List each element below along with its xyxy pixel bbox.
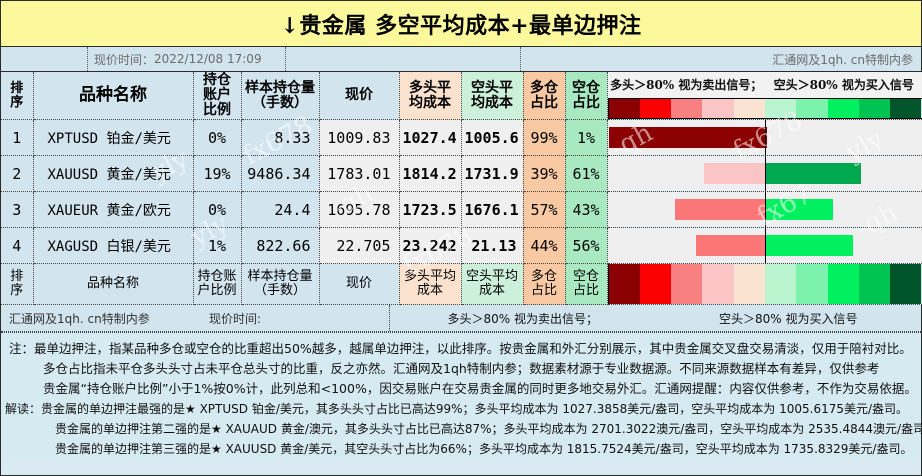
col-header-name: 品种名称 [33,72,193,120]
cell-long-ratio: 39% [523,156,565,192]
legend-swatch-6 [796,264,827,304]
cell-short-cost: 1676.1 [461,192,523,228]
sub-header: 现价时间：2022/12/08 17:09 汇通网及1qh. cn特制内参 [1,47,921,72]
cell-long-cost: 23.242 [399,228,461,264]
cell-long-cost: 1723.5 [399,192,461,228]
legend-swatch-0 [609,264,640,304]
bar-center-line [765,156,766,191]
cell-long-ratio: 57% [523,192,565,228]
cell-ratio-bar [607,228,922,264]
cell-long-cost: 1027.4 [399,120,461,156]
col-header-short-ratio: 空仓占比 [565,72,607,120]
cell-account-ratio: 0% [193,192,241,228]
cell-instrument-name: XAGUSD 白银/美元 [33,228,193,264]
fcol-header-name: 品种名称 [33,264,193,305]
cell-ratio-bar [607,192,922,228]
cell-instrument-name: XAUEUR 黄金/欧元 [33,192,193,228]
cell-rank: 3 [1,192,33,228]
cell-price: 1695.78 [319,192,399,228]
legend-labels: 多头＞80% 视为卖出信号； 空头＞80% 视为买入信号 [608,72,922,98]
legend-long-signal: 多头＞80% 视为卖出信号； [608,78,766,93]
report-page: ↓贵金属 多空平均成本+最单边押注 现价时间：2022/12/08 17:09 … [0,0,922,476]
legend-panel-bottom [607,264,922,305]
table-row[interactable]: 2XAUUSD 黄金/美元19%9486.341783.011814.21731… [1,156,922,192]
legend-swatch-2 [671,264,702,304]
legend-swatch-8 [859,264,890,304]
table-row[interactable]: 3XAUEUR 黄金/欧元0%24.41695.781723.51676.157… [1,192,922,228]
legend-swatch-1 [640,264,671,304]
cell-short-ratio: 43% [565,192,607,228]
col-header-sample-lots: 样本持仓量（手数） [241,72,319,120]
bar-short [765,199,833,220]
cell-short-ratio: 61% [565,156,607,192]
current-time-value: 2022/12/08 17:09 [154,52,262,66]
legend-swatch-4 [734,264,765,304]
fcol-header-short-ratio: 空仓占比 [565,264,607,305]
fcol-header-sample-lots: 样本持仓量（手数） [241,264,319,305]
bar-center-line [765,120,766,155]
footer-brand: 汇通网及1qh. cn特制内参 [1,305,209,331]
page-title-bar: ↓贵金属 多空平均成本+最单边押注 [1,1,921,47]
fcol-header-long-cost: 多头平均成本 [399,264,461,305]
legend-swatch-3 [702,264,733,304]
cell-rank: 4 [1,228,33,264]
cell-long-cost: 1814.2 [399,156,461,192]
note-line: 贵金属“持仓账户比例”小于1%按0%计，此列总和<100%，因交易账户在交易贵金… [1,379,921,399]
legend-swatch-0 [609,99,640,118]
table-footer-header-row: 排序 品种名称 持仓账户比例 样本持仓量（手数） 现价 多头平均成本 空头平均成… [1,264,922,305]
col-header-price: 现价 [319,72,399,120]
legend-swatch-9 [890,264,921,304]
footer-long-signal: 多头＞80% 视为卖出信号； [390,310,656,327]
footer-brand-row: 汇通网及1qh. cn特制内参 现价时间: 多头＞80% 视为卖出信号； 空头＞… [1,305,921,332]
table-row[interactable]: 1XPTUSD 铂金/美元0%8.331009.831027.41005.699… [1,120,922,156]
bar-center-line [765,192,766,227]
col-header-long-cost: 多头平均成本 [399,72,461,120]
fcol-header-short-cost: 空头平均成本 [461,264,523,305]
legend-swatch-7 [828,99,859,118]
note-line: 多仓占比指未平仓多头头寸占未平仓总头寸的比重，反之亦然。汇通网及1qh特制内参；… [1,359,921,379]
cell-price: 22.705 [319,228,399,264]
legend-swatch-3 [702,99,733,118]
cell-sample-lots: 9486.34 [241,156,319,192]
cell-short-ratio: 1% [565,120,607,156]
cell-long-ratio: 99% [523,120,565,156]
cell-short-ratio: 56% [565,228,607,264]
cell-rank: 1 [1,120,33,156]
bar-center-line [765,228,766,263]
reading-line: 贵金属的单边押注第三强的是★ XAUUSD 黄金/美元，其空头头寸占比为66%；… [1,439,921,459]
brand-label: 汇通网及1qh. cn特制内参 [521,47,921,71]
cell-short-cost: 21.13 [461,228,523,264]
cell-sample-lots: 822.66 [241,228,319,264]
col-header-rank: 排序 [1,72,33,120]
legend-short-signal: 空头＞80% 视为买入信号 [765,78,922,93]
footer-short-signal: 空头＞80% 视为买入信号 [656,310,922,327]
footer-signals: 多头＞80% 视为卖出信号； 空头＞80% 视为买入信号 [389,305,921,331]
fcol-header-account-ratio: 持仓账户比例 [193,264,241,305]
legend-swatch-5 [765,99,796,118]
col-header-account-ratio: 持仓账户比例 [193,72,241,120]
bar-long [704,163,765,184]
cell-account-ratio: 1% [193,228,241,264]
cell-sample-lots: 8.33 [241,120,319,156]
page-title: ↓贵金属 多空平均成本+最单边押注 [280,8,641,40]
legend-swatch-9 [890,99,921,118]
cell-rank: 2 [1,156,33,192]
legend-swatch-6 [796,99,827,118]
current-time: 现价时间：2022/12/08 17:09 [88,47,286,71]
legend-swatch-1 [640,99,671,118]
fcol-header-rank: 排序 [1,264,33,305]
legend-swatch-7 [828,264,859,304]
cell-short-cost: 1005.6 [461,120,523,156]
cell-short-cost: 1731.9 [461,156,523,192]
col-header-long-ratio: 多仓占比 [523,72,565,120]
cell-price: 1009.83 [319,120,399,156]
cell-ratio-bar [607,156,922,192]
legend-color-scale-bottom [608,264,922,304]
legend-swatch-5 [765,264,796,304]
legend-swatch-8 [859,99,890,118]
bar-long [696,235,765,256]
legend-color-scale [608,98,922,119]
fcol-header-price: 现价 [319,264,399,305]
bar-short [765,163,861,184]
cell-instrument-name: XAUUSD 黄金/美元 [33,156,193,192]
cell-ratio-bar [607,120,922,156]
bar-long [675,199,765,220]
fcol-header-long-ratio: 多仓占比 [523,264,565,305]
notes-section: 注：最单边押注，指某品种多仓或空仓的比重超出50%越多，越属单边押注，以此排序。… [1,332,921,461]
bar-short [765,235,853,256]
subheader-spacer-left [1,47,88,71]
reading-line: 贵金属的单边押注第二强的是★ XAUAUD 黄金/澳元，其多头头寸占比已高达87… [1,419,921,439]
cell-price: 1783.01 [319,156,399,192]
table-body: 1XPTUSD 铂金/美元0%8.331009.831027.41005.699… [1,120,922,264]
cell-long-ratio: 44% [523,228,565,264]
table-row[interactable]: 4XAGUSD 白银/美元1%822.6622.70523.24221.1344… [1,228,922,264]
col-header-short-cost: 空头平均成本 [461,72,523,120]
positions-table: 排序 品种名称 持仓账户比例 样本持仓量（手数） 现价 多头平均成本 空头平均成… [1,72,922,305]
current-time-label: 现价时间： [94,51,154,68]
reading-line: 解读：贵金属的单边押注最强的是★ XPTUSD 铂金/美元，其多头头寸占比已高达… [1,399,921,419]
bar-long [609,127,765,148]
legend-swatch-2 [671,99,702,118]
subheader-spacer-mid [286,47,521,71]
legend-swatch-4 [734,99,765,118]
cell-sample-lots: 24.4 [241,192,319,228]
cell-account-ratio: 0% [193,120,241,156]
cell-account-ratio: 19% [193,156,241,192]
legend-panel: 多头＞80% 视为卖出信号； 空头＞80% 视为买入信号 [607,72,922,120]
note-line: 注：最单边押注，指某品种多仓或空仓的比重超出50%越多，越属单边押注，以此排序。… [1,339,921,359]
cell-instrument-name: XPTUSD 铂金/美元 [33,120,193,156]
table-header-row: 排序 品种名称 持仓账户比例 样本持仓量（手数） 现价 多头平均成本 空头平均成… [1,72,922,120]
footer-time-label: 现价时间: [209,305,389,331]
